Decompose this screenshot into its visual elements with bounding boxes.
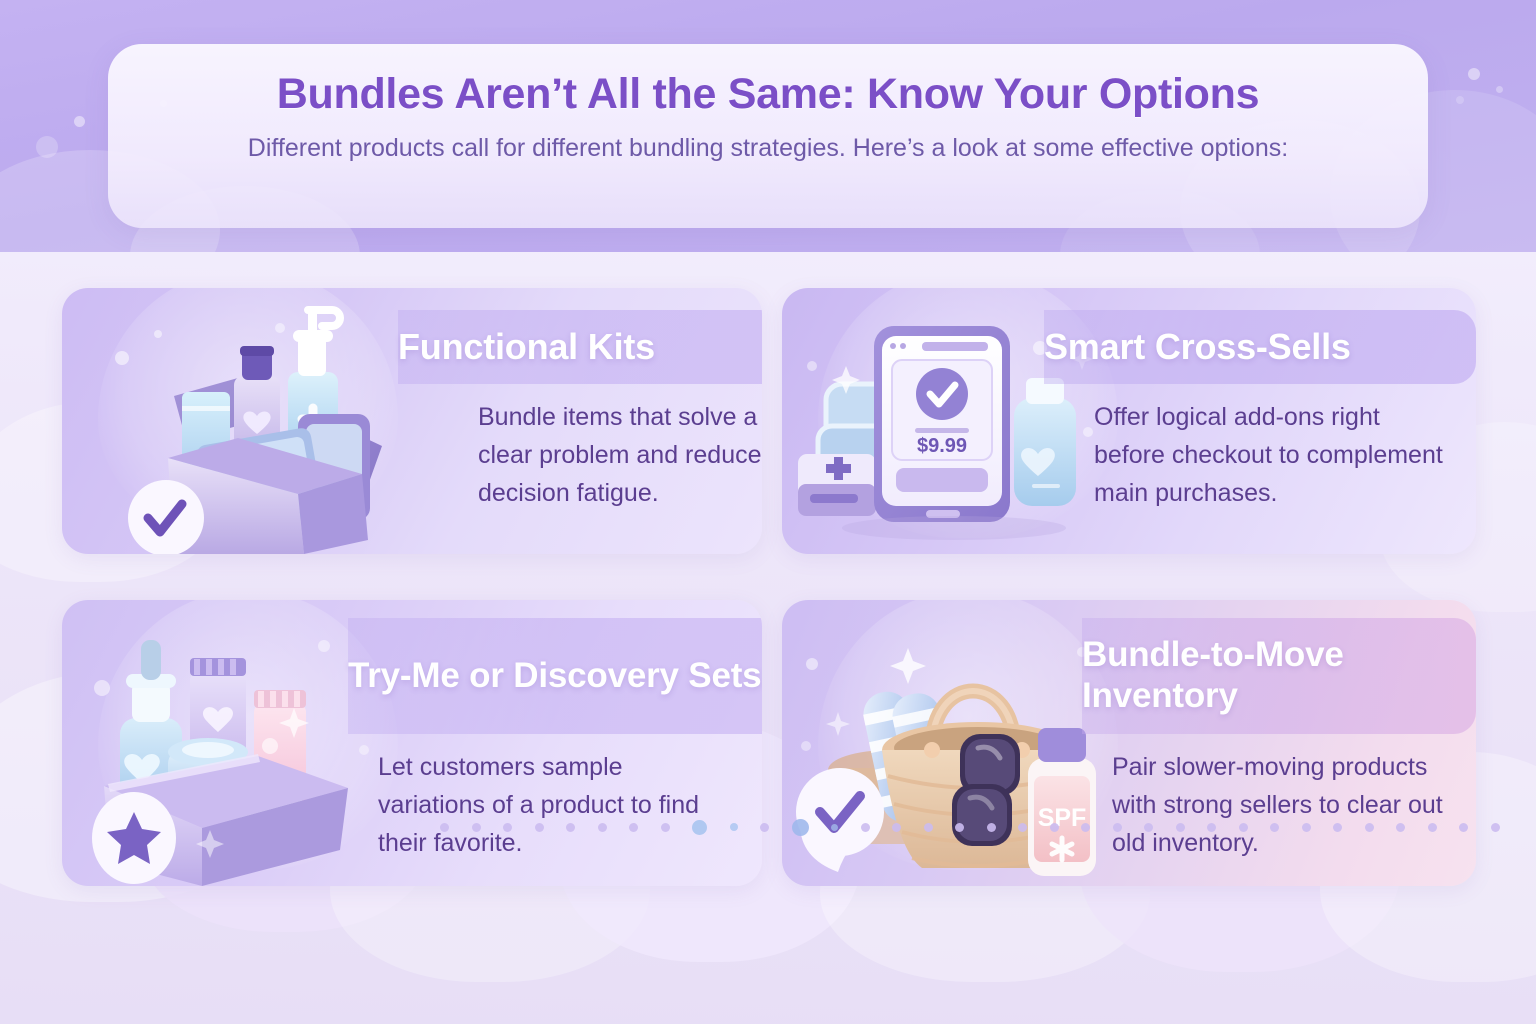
divider-dot — [472, 823, 481, 832]
divider-dot — [955, 823, 964, 832]
divider-dot — [1428, 823, 1437, 832]
header-dot-1 — [74, 116, 85, 127]
divider-dot — [629, 823, 638, 832]
divider-dot — [1459, 823, 1468, 832]
card-description: Offer logical add-ons right before check… — [1094, 398, 1454, 512]
divider-dot — [924, 823, 933, 832]
header-dot-5 — [1496, 86, 1503, 93]
header-dot-6 — [1456, 96, 1464, 104]
card-title-band: Try-Me or Discovery Sets — [348, 618, 762, 734]
card-title: Smart Cross-Sells — [1044, 326, 1351, 368]
divider-dot — [987, 823, 996, 832]
divider-dot — [1239, 823, 1248, 832]
header-card: Bundles Aren’t All the Same: Know Your O… — [108, 44, 1428, 228]
illustration-open-box-with-products — [62, 288, 402, 554]
divider-dot — [661, 823, 670, 832]
header-dot-3 — [36, 136, 58, 158]
divider-dot — [892, 823, 901, 832]
divider-dot — [1050, 823, 1059, 832]
illustration-beach-basket-with-sunscreen: SPF — [782, 600, 1122, 886]
card-title: Try-Me or Discovery Sets — [348, 656, 761, 697]
card-try-me-discovery-sets[interactable]: Try-Me or Discovery Sets Let customers s… — [62, 600, 762, 886]
divider-dot — [566, 823, 575, 832]
divider-dot — [692, 820, 707, 835]
header-band: Bundles Aren’t All the Same: Know Your O… — [0, 0, 1536, 252]
section-divider-dots — [440, 818, 1500, 836]
divider-dot — [831, 824, 838, 831]
divider-dot — [535, 823, 544, 832]
divider-dot — [1207, 823, 1216, 832]
divider-dot — [1333, 823, 1342, 832]
divider-dot — [730, 823, 738, 831]
divider-dot — [440, 823, 449, 832]
phone-price-label: $9.99 — [917, 435, 967, 457]
divider-dot — [1113, 823, 1122, 832]
card-description: Let customers sample variations of a pro… — [378, 748, 708, 862]
card-title: Bundle-to-Move Inventory — [1082, 635, 1432, 716]
page-title: Bundles Aren’t All the Same: Know Your O… — [277, 70, 1259, 119]
card-smart-cross-sells[interactable]: $9.99 — [782, 288, 1476, 554]
cards-grid: Functional Kits Bundle items that solve … — [0, 252, 1536, 1024]
page-subtitle: Different products call for different bu… — [248, 131, 1288, 167]
body-area: Functional Kits Bundle items that solve … — [0, 252, 1536, 1024]
divider-dot — [861, 823, 870, 832]
divider-dot — [1176, 823, 1185, 832]
card-bundle-to-move-inventory[interactable]: SPF — [782, 600, 1476, 886]
card-functional-kits[interactable]: Functional Kits Bundle items that solve … — [62, 288, 762, 554]
divider-dot — [503, 823, 512, 832]
divider-dot — [1270, 823, 1279, 832]
divider-dot — [1491, 823, 1500, 832]
card-title-band: Functional Kits — [398, 310, 762, 384]
divider-dot — [1396, 823, 1405, 832]
card-description: Bundle items that solve a clear problem … — [478, 398, 762, 512]
divider-dot — [1302, 823, 1311, 832]
divider-dot — [1081, 823, 1090, 832]
divider-dot — [792, 819, 809, 836]
divider-dot — [598, 823, 607, 832]
card-title-band: Bundle-to-Move Inventory — [1082, 618, 1476, 734]
card-title: Functional Kits — [398, 326, 655, 368]
divider-dot — [1018, 823, 1027, 832]
card-title-band: Smart Cross-Sells — [1044, 310, 1476, 384]
divider-dot — [1365, 823, 1374, 832]
divider-dot — [1144, 823, 1153, 832]
divider-dot — [760, 823, 769, 832]
infographic-stage: Bundles Aren’t All the Same: Know Your O… — [0, 0, 1536, 1024]
card-description: Pair slower-moving products with strong … — [1112, 748, 1462, 862]
header-dot-4 — [1468, 68, 1480, 80]
